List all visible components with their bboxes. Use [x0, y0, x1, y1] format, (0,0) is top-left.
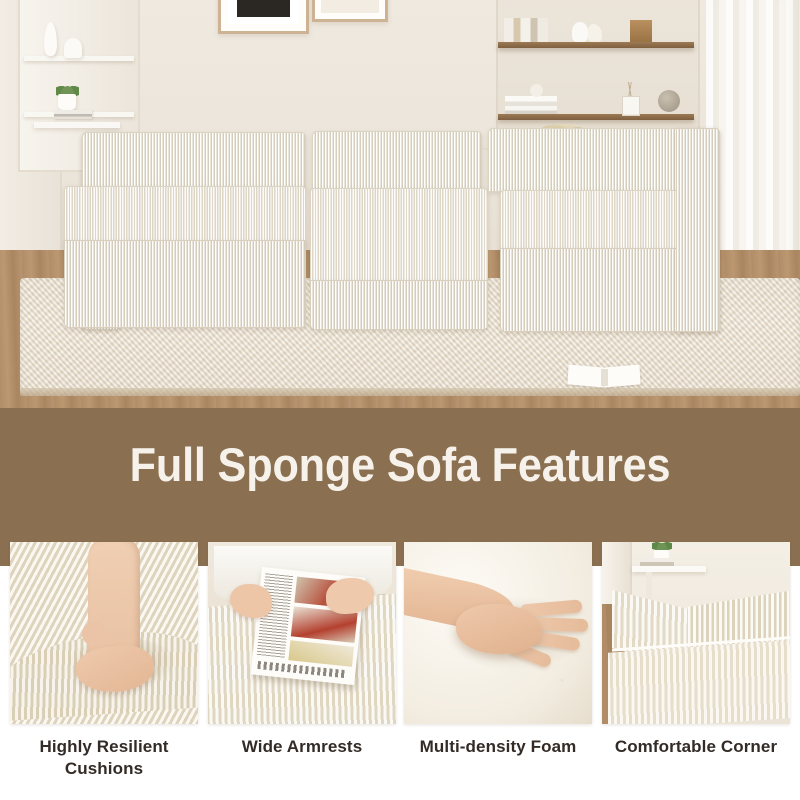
sofa-module-2-front: [310, 280, 488, 330]
hero-image: [0, 0, 800, 410]
sculpture-vase-a: [572, 22, 588, 42]
caption-comfortable-corner: Comfortable Corner: [597, 736, 795, 758]
white-vase-round: [64, 38, 82, 58]
wooden-box: [630, 20, 652, 42]
feature-image-multi-density-foam: [404, 542, 592, 724]
stacked-books-left: [54, 110, 92, 119]
decor-sphere: [530, 84, 543, 97]
open-book-on-rug: [568, 366, 642, 388]
wood-shelf-upper: [498, 42, 694, 48]
feature-caption-row: Highly ResilientCushions Wide Armrests M…: [0, 736, 800, 796]
books-middle-shelf: [505, 96, 557, 114]
sofa-armrest-right: [676, 128, 720, 332]
feature-thumbnail-row: [0, 542, 800, 724]
caption-highly-resilient-cushions: Highly ResilientCushions: [5, 736, 203, 780]
sofa-module-1-back: [82, 132, 306, 190]
caption-wide-armrests: Wide Armrests: [203, 736, 401, 758]
page-title: Full Sponge Sofa Features: [32, 437, 768, 493]
feature-image-comfortable-corner: [602, 542, 790, 724]
books-upper-shelf: [504, 18, 548, 42]
decor-disc: [658, 90, 680, 112]
sofa-module-1-front: [64, 240, 306, 328]
sofa-module-2-back: [312, 131, 482, 191]
product-feature-page: Full Sponge Sofa Features: [0, 0, 800, 800]
shelf-ledge: [34, 122, 120, 128]
caption-multi-density-foam: Multi-density Foam: [399, 736, 597, 758]
sculpture-vase-b: [588, 24, 602, 42]
feature-image-wide-armrests: [208, 542, 396, 724]
pencil-cup: [622, 96, 640, 116]
wall-art-frame-2: [312, 0, 388, 22]
sofa-module-2-seat: [310, 188, 488, 288]
rug-edge: [20, 388, 800, 396]
wall-art-frame-1: [218, 0, 309, 34]
window-curtain: [706, 0, 800, 290]
wood-shelf-lower: [498, 114, 694, 120]
plant-pot: [58, 94, 76, 110]
feature-image-highly-resilient-cushions: [10, 542, 198, 724]
